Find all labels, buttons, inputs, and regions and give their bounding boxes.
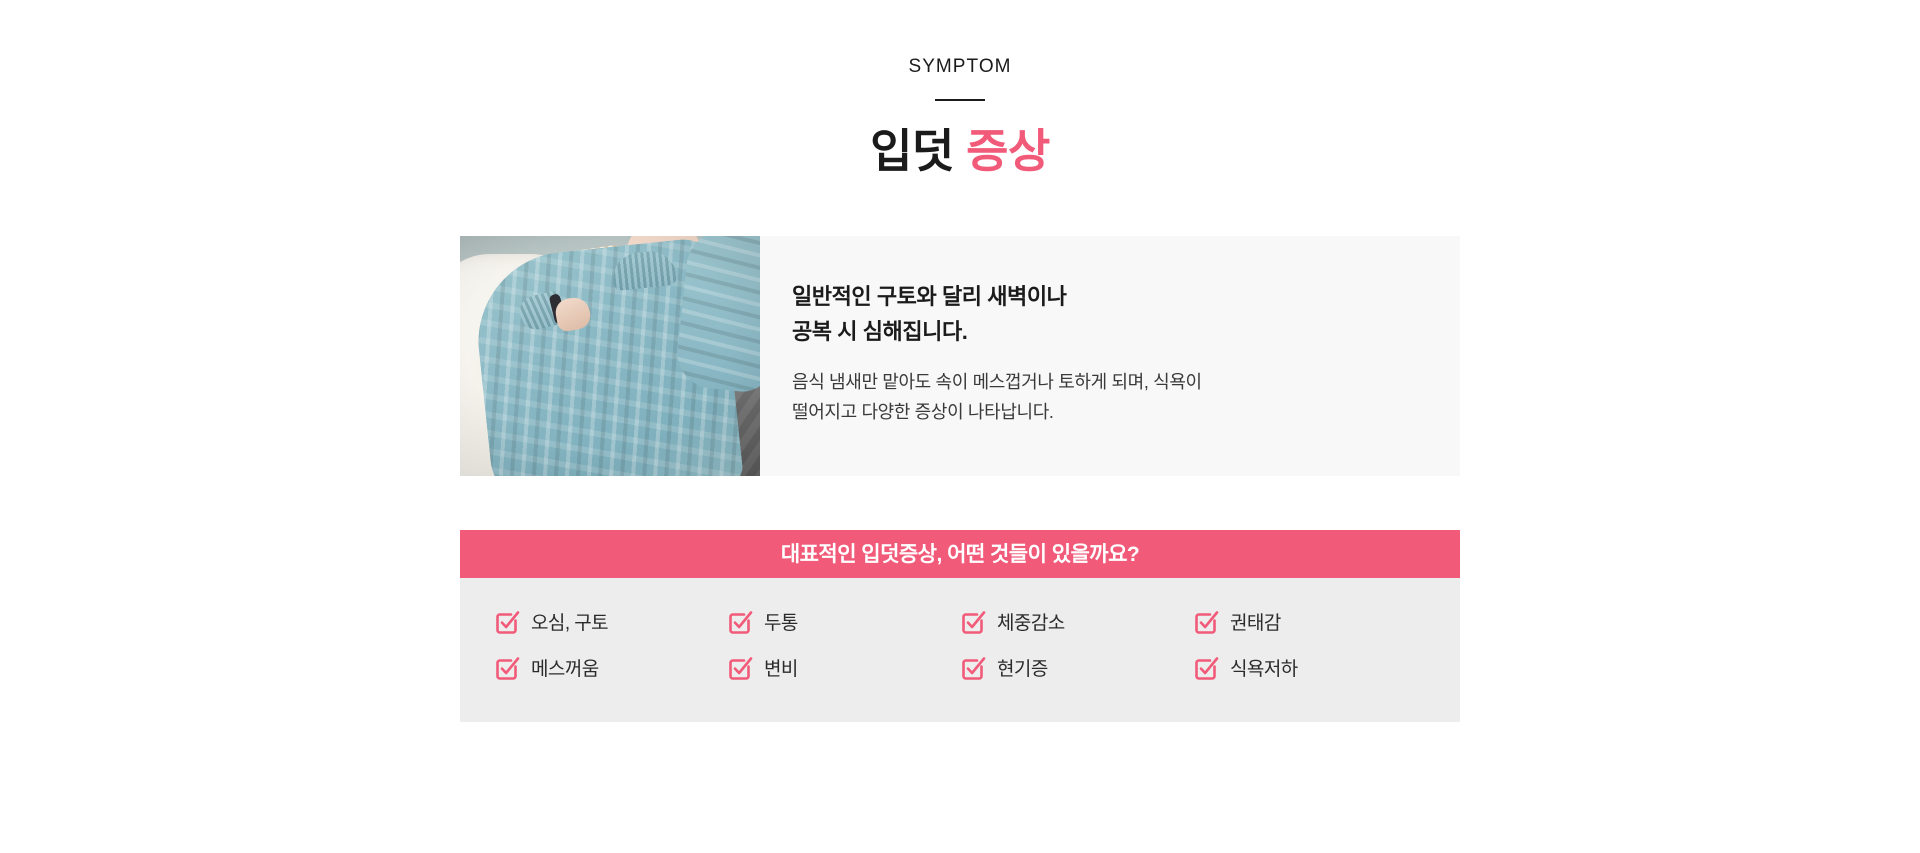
symptom-list-header-bar: 대표적인 입덧증상, 어떤 것들이 있을까요? [460, 530, 1460, 578]
symptom-item-2[interactable]: 체중감소 [960, 610, 1193, 636]
symptom-item-0[interactable]: 오심, 구토 [494, 610, 727, 636]
symptom-item-5[interactable]: 변비 [727, 656, 960, 682]
page-title: 입덧 증상 [0, 123, 1920, 181]
symptom-list-header-title: 대표적인 입덧증상, 어떤 것들이 있을까요? [781, 544, 1139, 565]
info-description: 음식 냄새만 맡아도 속이 메스껍거나 토하게 되며, 식욕이 떨어지고 다양한… [792, 367, 1412, 429]
info-headline-line-1: 일반적인 구토와 달리 새벽이나 [792, 284, 1066, 309]
checkbox-checked-icon [727, 656, 753, 682]
info-headline-line-2: 공복 시 심해집니다. [792, 319, 967, 344]
page-root: SYMPTOM 입덧 증상 일반적인 구토와 달리 새벽이나 [0, 0, 1920, 853]
symptom-item-label: 두통 [764, 614, 798, 633]
symptom-grid: 오심, 구토 두통 [494, 610, 1426, 682]
info-headline: 일반적인 구토와 달리 새벽이나 공복 시 심해집니다. [792, 280, 1460, 350]
section-header: SYMPTOM 입덧 증상 [0, 56, 1920, 180]
checkbox-checked-icon [960, 610, 986, 636]
symptom-list-block: 대표적인 입덧증상, 어떤 것들이 있을까요? 오심, 구토 [460, 530, 1460, 722]
checkbox-checked-icon [494, 656, 520, 682]
symptom-item-1[interactable]: 두통 [727, 610, 960, 636]
eyebrow-divider [935, 99, 985, 101]
symptom-item-label: 변비 [764, 660, 798, 679]
info-text-column: 일반적인 구토와 달리 새벽이나 공복 시 심해집니다. 음식 냄새만 맡아도 … [760, 236, 1460, 476]
info-description-line-2: 떨어지고 다양한 증상이 나타납니다. [792, 397, 1412, 428]
checkbox-checked-icon [1193, 656, 1219, 682]
checkbox-checked-icon [494, 610, 520, 636]
page-title-accent-part: 증상 [966, 125, 1050, 177]
info-description-line-1: 음식 냄새만 맡아도 속이 메스껍거나 토하게 되며, 식욕이 [792, 372, 1202, 392]
pregnant-woman-photo [460, 236, 760, 476]
checkbox-checked-icon [727, 610, 753, 636]
photo-vignette-overlay [460, 236, 760, 476]
checkbox-checked-icon [1193, 610, 1219, 636]
symptom-item-label: 오심, 구토 [531, 614, 608, 633]
page-title-dark-part: 입덧 [870, 125, 954, 177]
symptom-item-label: 체중감소 [997, 614, 1065, 633]
symptom-item-label: 식욕저하 [1230, 660, 1298, 679]
symptom-item-label: 현기증 [997, 660, 1048, 679]
info-panel: 일반적인 구토와 달리 새벽이나 공복 시 심해집니다. 음식 냄새만 맡아도 … [460, 236, 1460, 476]
symptom-item-label: 메스꺼움 [531, 660, 599, 679]
symptom-item-label: 권태감 [1230, 614, 1281, 633]
symptom-item-7[interactable]: 식욕저하 [1193, 656, 1426, 682]
symptom-item-6[interactable]: 현기증 [960, 656, 1193, 682]
symptom-item-4[interactable]: 메스꺼움 [494, 656, 727, 682]
symptom-item-3[interactable]: 권태감 [1193, 610, 1426, 636]
section-eyebrow-label: SYMPTOM [0, 56, 1920, 79]
symptom-list-body: 오심, 구토 두통 [460, 578, 1460, 722]
checkbox-checked-icon [960, 656, 986, 682]
